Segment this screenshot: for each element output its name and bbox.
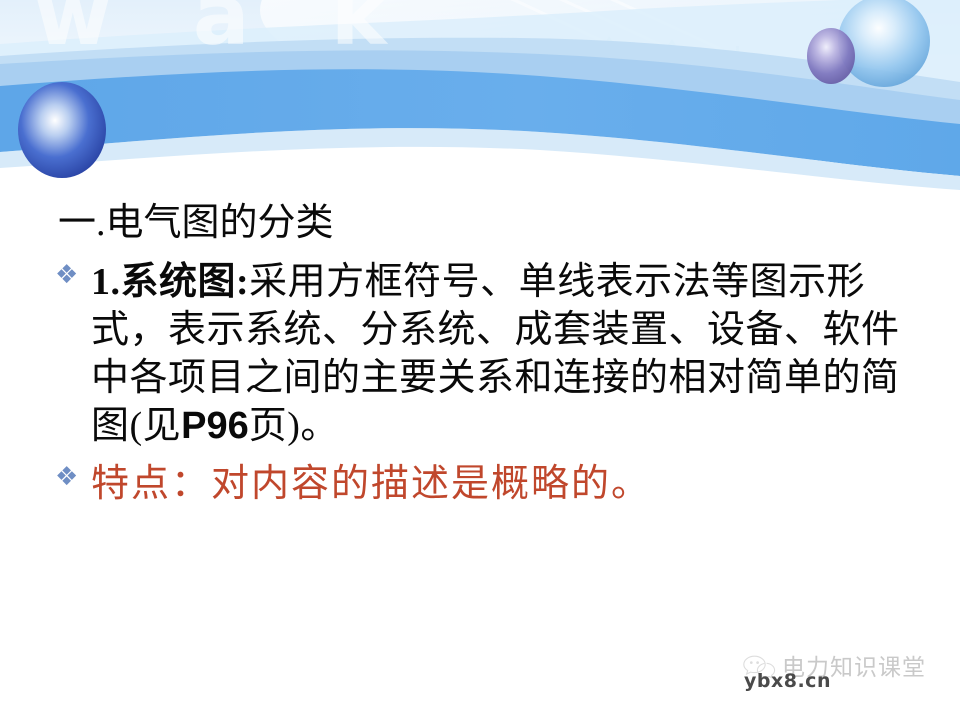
list-item: ❖ 1.系统图:采用方框符号、单线表示法等图示形式，表示系统、分系统、成套装置、… bbox=[55, 258, 935, 450]
list-item: ❖ 特点：对内容的描述是概略的。 bbox=[55, 460, 935, 508]
footer-watermark: 电力知识课堂 ybx8.cn bbox=[742, 652, 952, 696]
list-item-page-ref: P96 bbox=[181, 405, 249, 447]
footer-url-watermark: ybx8.cn bbox=[744, 670, 831, 692]
sphere-dark-blue bbox=[18, 82, 106, 178]
list-item-body-tail: 页)。 bbox=[249, 405, 339, 447]
diamond-bullet-icon: ❖ bbox=[55, 262, 81, 288]
diamond-bullet-icon: ❖ bbox=[55, 464, 81, 490]
slide-canvas: w a k 一.电气图的分类 ❖ 1.系统图:采用方框符号、单线表示法等图示形式… bbox=[0, 0, 960, 720]
list-item-text: 特点：对内容的描述是概略的。 bbox=[91, 463, 651, 505]
bullet-list: ❖ 1.系统图:采用方框符号、单线表示法等图示形式，表示系统、分系统、成套装置、… bbox=[55, 258, 935, 508]
banner-artwork bbox=[0, 0, 960, 190]
list-item-text: 1.系统图:采用方框符号、单线表示法等图示形式，表示系统、分系统、成套装置、设备… bbox=[91, 261, 900, 447]
list-item-body: 特点：对内容的描述是概略的。 bbox=[91, 463, 651, 505]
sphere-purple bbox=[807, 28, 855, 84]
list-item-lead: 1.系统图: bbox=[91, 261, 249, 303]
page-title: 一.电气图的分类 bbox=[58, 201, 334, 245]
header-banner: w a k bbox=[0, 0, 960, 190]
